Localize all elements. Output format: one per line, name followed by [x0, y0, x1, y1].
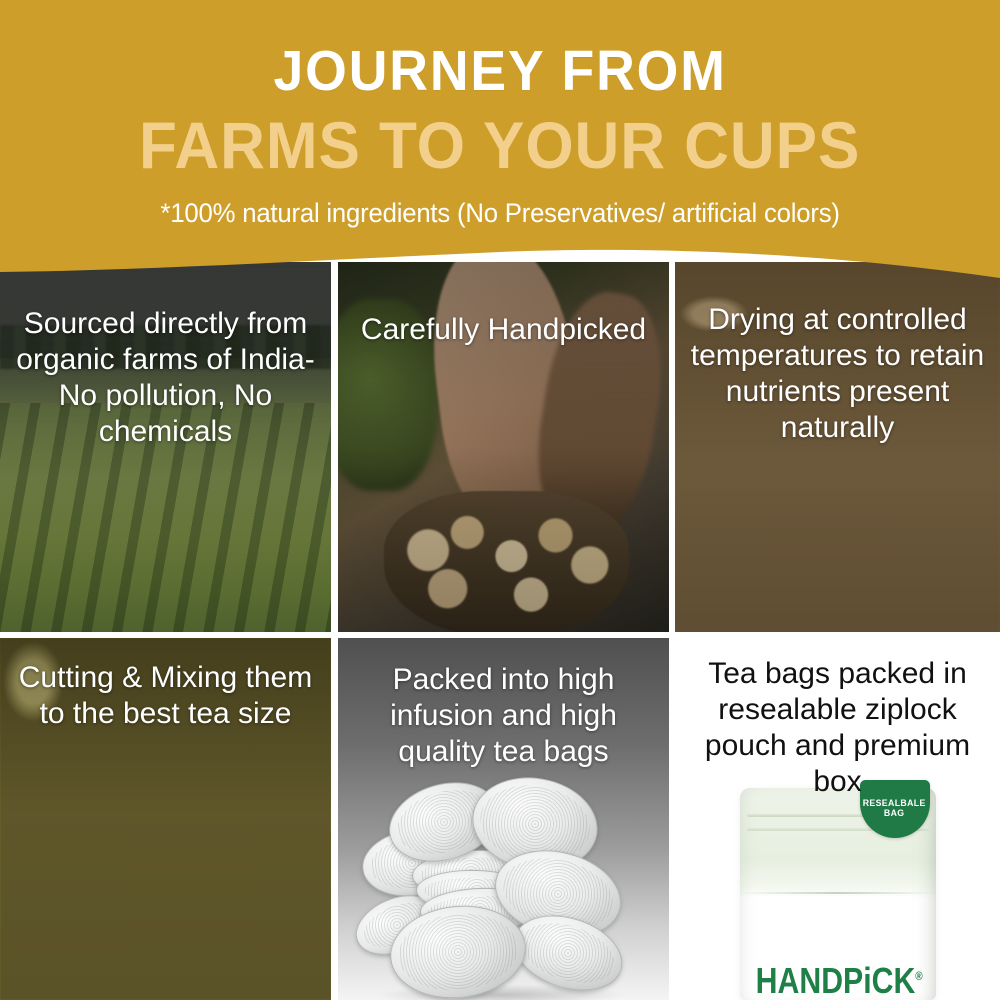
panel-handpicking-caption: Carefully Handpicked	[338, 312, 669, 348]
badge-label-line2: BAG	[884, 809, 905, 819]
product-pouch: RESEALBALE BAG HANDPiCK®	[740, 788, 936, 1000]
panel-cutting-mixing: Cutting & Mixing them to the best tea si…	[0, 638, 331, 1000]
panel-sourcing-caption: Sourced directly from organic farms of I…	[0, 306, 331, 450]
brand-logo-text: HANDPiCK	[755, 960, 915, 1000]
registered-trademark-icon: ®	[915, 969, 922, 983]
panel-drying-caption: Drying at controlled temperatures to ret…	[675, 302, 1000, 446]
process-grid: Sourced directly from organic farms of I…	[0, 262, 1000, 1000]
page-title-line2: FARMS TO YOUR CUPS	[139, 112, 860, 179]
grid-divider-vertical	[331, 638, 338, 1000]
page-title-line1: JOURNEY FROM	[273, 42, 726, 100]
panel-handpicking: Carefully Handpicked	[338, 262, 669, 632]
header-banner: JOURNEY FROM FARMS TO YOUR CUPS *100% na…	[0, 0, 1000, 300]
panel-drying: Drying at controlled temperatures to ret…	[675, 262, 1000, 632]
infographic-poster: JOURNEY FROM FARMS TO YOUR CUPS *100% na…	[0, 0, 1000, 1000]
panel-cutting-mixing-caption: Cutting & Mixing them to the best tea si…	[0, 660, 331, 732]
header-subtitle: *100% natural ingredients (No Preservati…	[160, 198, 839, 229]
pouch-body: RESEALBALE BAG HANDPiCK®	[740, 788, 936, 1000]
panel-packing-bags: Packed into high infusion and high quali…	[338, 638, 669, 1000]
panel-sourcing: Sourced directly from organic farms of I…	[0, 262, 331, 632]
brand-logo: HANDPiCK®	[755, 960, 920, 1000]
tea-bags-stack	[354, 778, 654, 1000]
panel-final-packaging-caption: Tea bags packed in resealable ziplock po…	[675, 656, 1000, 800]
panel-packing-bags-caption: Packed into high infusion and high quali…	[338, 662, 669, 770]
grid-divider-vertical	[331, 262, 338, 632]
panel-final-packaging: Tea bags packed in resealable ziplock po…	[675, 638, 1000, 1000]
pouch-seam	[740, 892, 936, 894]
